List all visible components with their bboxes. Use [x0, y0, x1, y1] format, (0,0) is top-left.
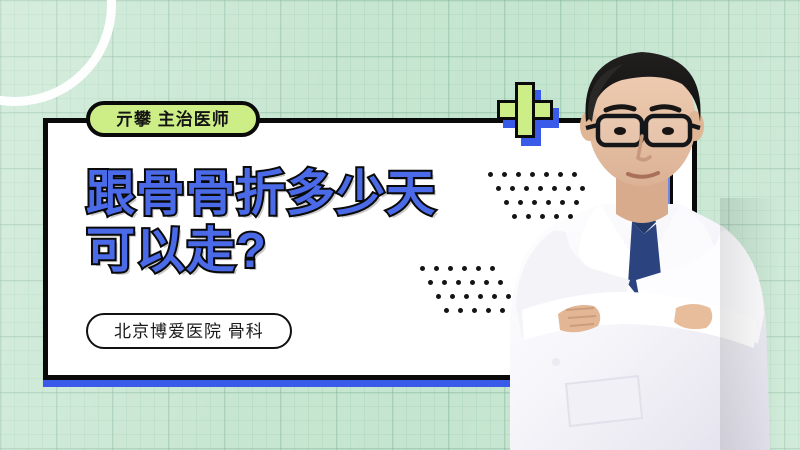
hospital-department-pill: 北京博爱医院 骨科	[86, 313, 292, 349]
headline-line-2: 可以走?	[86, 223, 516, 280]
thumbnail-canvas: 亓攀 主治医师 跟骨骨折多少天 可以走? 北京博爱医院 骨科	[0, 0, 800, 450]
headline-line-1: 跟骨骨折多少天	[86, 166, 516, 223]
hospital-department-label: 北京博爱医院 骨科	[114, 323, 264, 340]
doctor-name-badge-label: 亓攀 主治医师	[116, 111, 230, 128]
doctor-name-badge: 亓攀 主治医师	[86, 101, 260, 137]
medical-cross-icon	[497, 82, 553, 138]
headline: 跟骨骨折多少天 可以走?	[86, 166, 516, 280]
